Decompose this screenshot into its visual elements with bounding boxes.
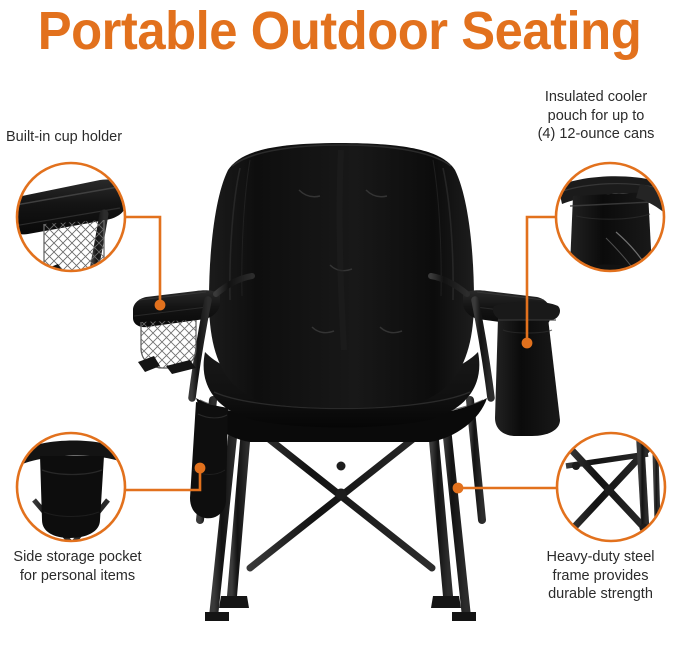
cup-holder-mesh (138, 320, 196, 374)
connector-side-pocket (125, 470, 200, 490)
connector-dot-side-pocket (195, 463, 206, 474)
connector-cup-holder (125, 217, 160, 303)
connector-dot-cooler-pouch (522, 338, 533, 349)
connector-dot-cup-holder (155, 300, 166, 311)
callout-label-steel-frame: Heavy-duty steel frame provides durable … (528, 548, 673, 604)
callout-steel-frame[interactable] (557, 433, 665, 541)
callout-label-side-pocket: Side storage pocket for personal items (0, 548, 155, 585)
callout-side-pocket[interactable] (17, 433, 125, 542)
camp-chair-graphic (133, 143, 560, 621)
chair-x-brace (245, 420, 437, 568)
callout-cooler-pouch[interactable] (556, 163, 666, 286)
chair-front-legs (219, 418, 461, 608)
connector-dot-steel-frame (453, 483, 464, 494)
callout-label-cooler-pouch: Insulated cooler pouch for up to (4) 12-… (521, 88, 671, 144)
side-storage-pocket (190, 402, 228, 518)
callout-label-cup-holder: Built-in cup holder (6, 128, 122, 147)
callout-cup-holder[interactable] (11, 163, 126, 288)
infographic-canvas: Portable Outdoor Seating (0, 0, 679, 650)
